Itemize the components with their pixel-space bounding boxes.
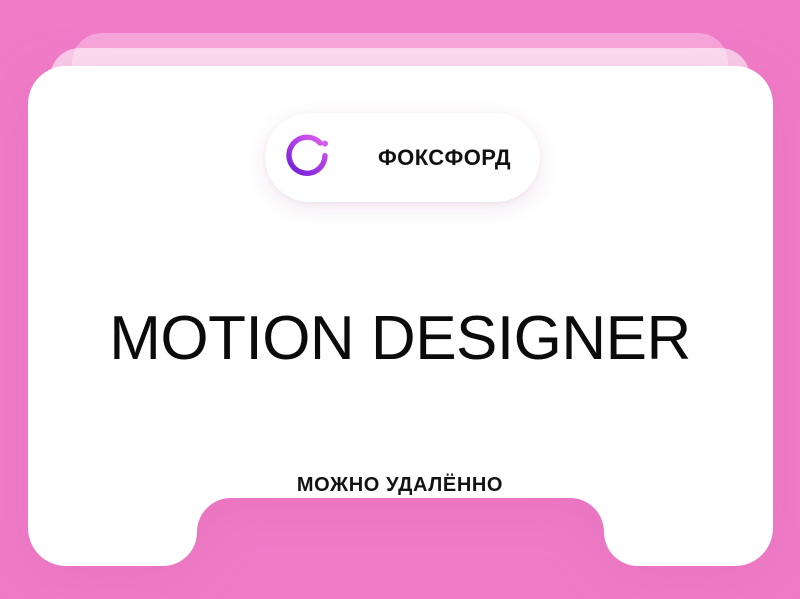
open-ring-with-dot-icon bbox=[282, 131, 336, 185]
page-title: MOTION DESIGNER bbox=[0, 303, 800, 374]
remote-work-label: МОЖНО УДАЛЁННО bbox=[0, 474, 800, 497]
brand-pill[interactable]: ФОКСФОРД bbox=[265, 113, 540, 202]
vacancy-card-stage: ФОКСФОРД MOTION DESIGNER МОЖНО УДАЛЁННО bbox=[0, 0, 800, 599]
brand-name-label: ФОКСФОРД bbox=[378, 145, 511, 171]
